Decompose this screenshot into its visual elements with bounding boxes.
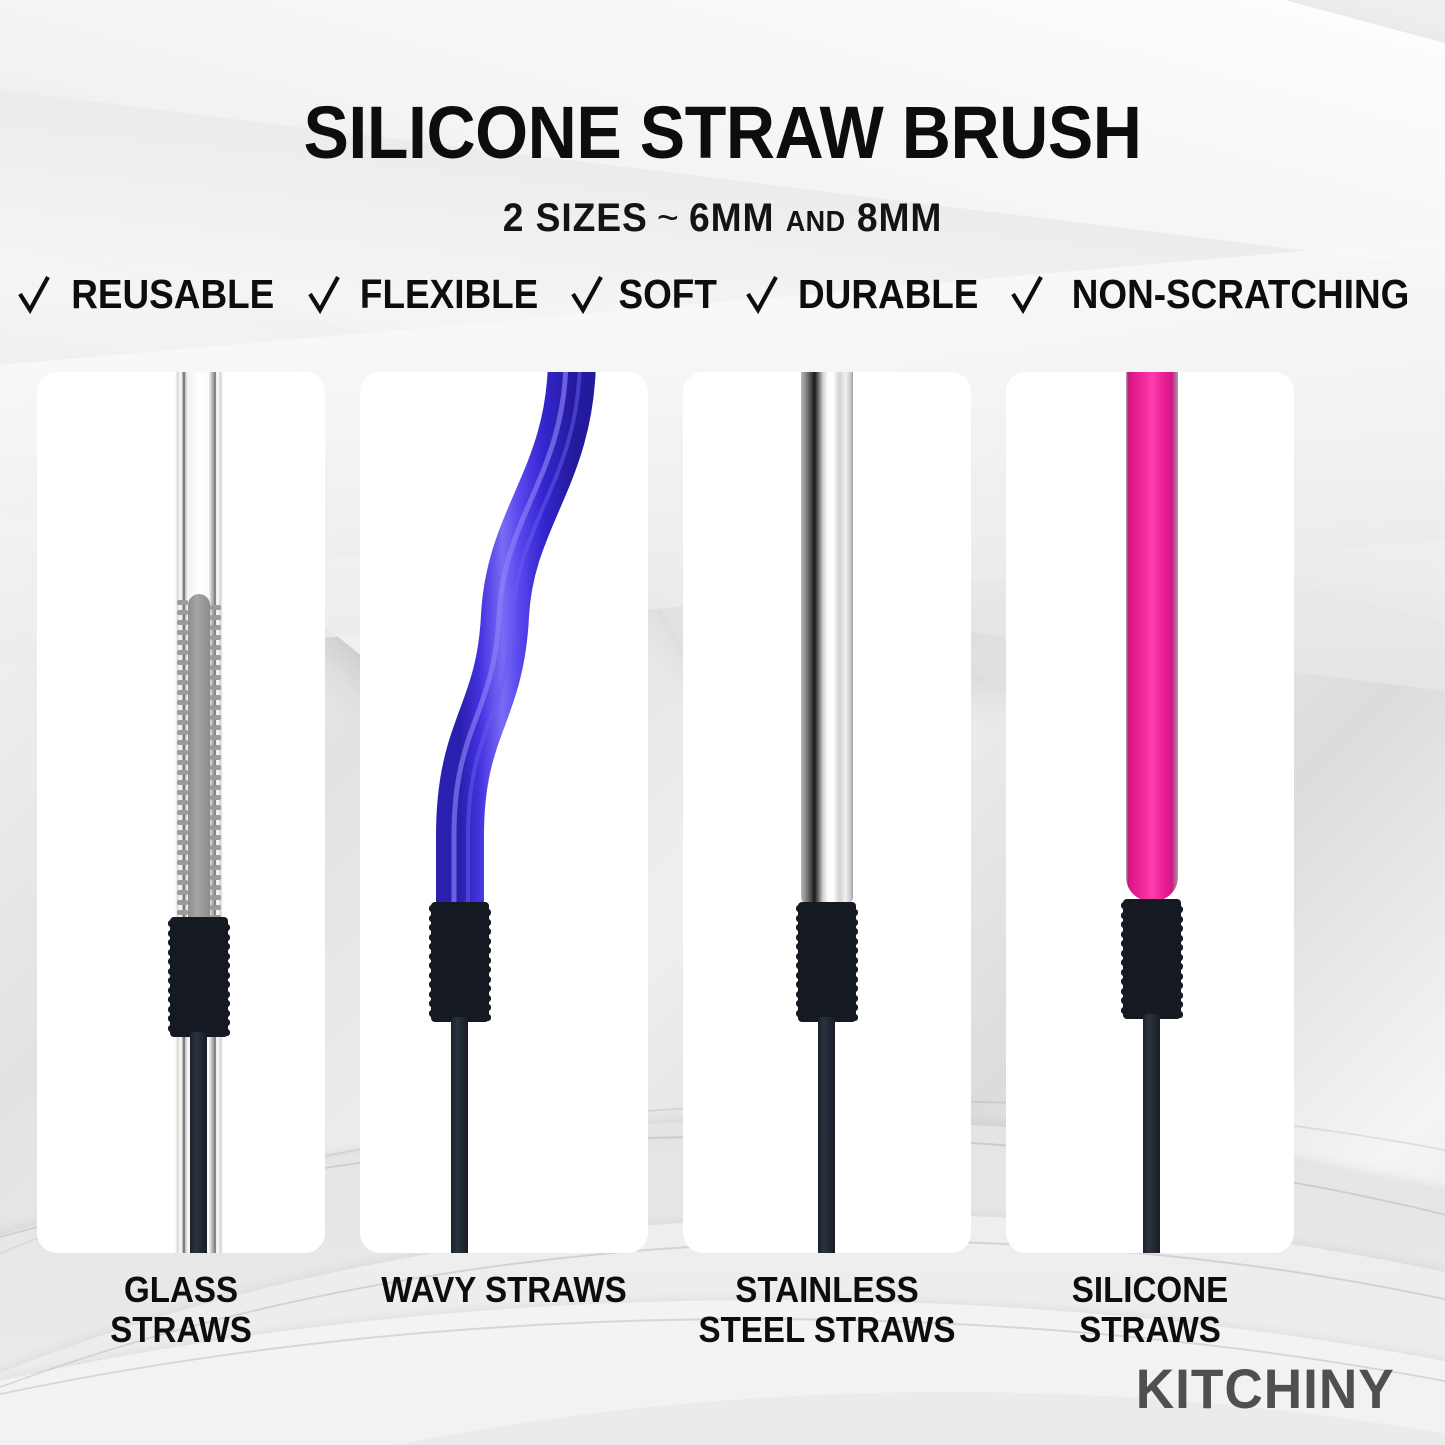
brush-bristle	[429, 934, 459, 941]
feature-label-soft: SOFT	[619, 271, 717, 318]
brush-bristle	[1153, 982, 1183, 989]
brush-bristle	[461, 1004, 491, 1011]
product-panel-wavy	[360, 372, 648, 1253]
brush-bristle	[828, 985, 858, 992]
feature-label-flexible: FLEXIBLE	[360, 271, 538, 318]
brush-bristle	[828, 909, 858, 916]
brush-bristle	[828, 966, 858, 973]
brush-bristle	[200, 1000, 230, 1007]
brush-bristle	[168, 1015, 198, 1022]
product-panel-steel	[683, 372, 971, 1253]
brush-bristle	[429, 943, 459, 950]
feature-label-non-scratching: NON-SCRATCHING	[1072, 271, 1410, 318]
brush-bristle	[796, 934, 826, 941]
brush-bristle	[429, 924, 459, 931]
check-icon	[745, 273, 779, 317]
brush-bristle	[461, 909, 491, 916]
brush-bristle	[429, 915, 459, 922]
brush-bristle	[828, 1004, 858, 1011]
brush-bristle	[168, 930, 198, 937]
feature-item-durable: DURABLE	[745, 271, 988, 318]
brush-bristle	[1121, 940, 1151, 947]
brush-bristle	[796, 905, 826, 912]
brush-bristle	[461, 928, 491, 935]
brush-bristle	[200, 934, 230, 941]
brush-bristle	[200, 953, 230, 960]
subtitle-size-small: 6MM	[689, 196, 774, 240]
brush-bristle	[168, 968, 198, 975]
brush-bristles	[360, 372, 648, 1253]
product-panel-glass	[37, 372, 325, 1253]
feature-item-non-scratching: NON-SCRATCHING	[1010, 271, 1428, 318]
brush-bristle	[1153, 935, 1183, 942]
brush-bristle	[168, 1006, 198, 1013]
subtitle-and: AND	[786, 206, 846, 238]
brush-bristle	[200, 991, 230, 998]
brush-bristle	[1121, 1007, 1151, 1014]
brush-bristle	[828, 957, 858, 964]
brush-bristle	[429, 962, 459, 969]
brush-bristle	[1121, 969, 1151, 976]
brush-bristle	[828, 919, 858, 926]
check-icon	[307, 273, 341, 317]
product-infographic: SILICONE STRAW BRUSH 2 SIZES~6MM AND 8MM…	[0, 0, 1445, 1445]
subtitle-size-large: 8MM	[857, 196, 942, 240]
brush-bristle	[828, 938, 858, 945]
wavy-straw-illustration	[360, 372, 648, 1253]
brush-handle	[818, 1017, 835, 1253]
brush-bristle	[200, 962, 230, 969]
brush-bristle	[461, 938, 491, 945]
brush-bristle	[1153, 925, 1183, 932]
brush-bristle	[796, 915, 826, 922]
brush-bristle	[1153, 973, 1183, 980]
brush-bristle	[200, 972, 230, 979]
caption-glass: GLASS STRAWS	[49, 1270, 314, 1351]
glass-straw-illustration	[37, 372, 325, 1253]
brush-bristle	[1153, 992, 1183, 999]
brush-bristle	[1153, 1001, 1183, 1008]
brush-bristle	[1153, 954, 1183, 961]
page-title: SILICONE STRAW BRUSH	[58, 0, 1387, 170]
brush-bristle	[168, 949, 198, 956]
feature-item-reusable: REUSABLE	[17, 271, 286, 318]
brush-bristle	[461, 995, 491, 1002]
brush-bristle	[461, 976, 491, 983]
brush-bristle	[828, 995, 858, 1002]
brush-bristle	[1153, 963, 1183, 970]
brush-bristle	[429, 1010, 459, 1017]
brush-bristle	[1121, 912, 1151, 919]
caption-silicone: SILICONE STRAWS	[1018, 1270, 1283, 1351]
brush-bristle	[200, 1019, 230, 1026]
brush-bristle	[461, 985, 491, 992]
brush-bristle	[1121, 978, 1151, 985]
product-panel-silicone	[1006, 372, 1294, 1253]
brush-bristle	[1121, 959, 1151, 966]
brush-bristle	[796, 962, 826, 969]
brush-bristle	[1121, 902, 1151, 909]
brush-bristle	[828, 976, 858, 983]
brush-bristle	[828, 947, 858, 954]
brush-bristle	[1121, 931, 1151, 938]
brush-bristle	[1153, 944, 1183, 951]
brush-bristle	[796, 981, 826, 988]
brush-bristle	[168, 996, 198, 1003]
product-panel-row	[37, 372, 1408, 1253]
brush-bristle	[796, 972, 826, 979]
brush-bristle	[1121, 950, 1151, 957]
feature-item-soft: SOFT	[570, 271, 722, 318]
brush-bristle	[1121, 988, 1151, 995]
brush-bristle	[200, 981, 230, 988]
brush-bristle	[1153, 916, 1183, 923]
brush-bristle	[168, 958, 198, 965]
brush-bristle	[200, 924, 230, 931]
steel-straw-illustration	[683, 372, 971, 1253]
brush-bristle	[429, 991, 459, 998]
header: SILICONE STRAW BRUSH 2 SIZES~6MM AND 8MM…	[0, 0, 1445, 318]
brush-bristle	[828, 928, 858, 935]
brush-bristle	[461, 947, 491, 954]
brush-bristle	[200, 1010, 230, 1017]
brush-bristle	[461, 957, 491, 964]
brush-bristle	[796, 991, 826, 998]
brush-bristle	[796, 943, 826, 950]
feature-label-durable: DURABLE	[798, 271, 978, 318]
check-icon	[570, 273, 604, 317]
brush-bristle	[200, 943, 230, 950]
brush-bristles	[37, 372, 325, 1253]
brush-bristle	[429, 1000, 459, 1007]
brush-bristle	[429, 972, 459, 979]
brush-bristle	[168, 987, 198, 994]
size-subtitle: 2 SIZES~6MM AND 8MM	[51, 170, 1395, 241]
feature-label-reusable: REUSABLE	[71, 271, 274, 318]
brush-bristle	[796, 924, 826, 931]
brush-bristle	[796, 953, 826, 960]
brush-bristle	[796, 1010, 826, 1017]
brush-handle	[451, 1017, 468, 1253]
brush-bristle	[1153, 906, 1183, 913]
brush-bristle	[168, 920, 198, 927]
subtitle-tilde: ~	[648, 196, 689, 240]
brush-bristle	[168, 977, 198, 984]
caption-row: GLASS STRAWS WAVY STRAWS STAINLESS STEEL…	[37, 1270, 1408, 1351]
brush-bristle	[168, 1025, 198, 1032]
brush-bristle	[1121, 997, 1151, 1004]
feature-list: REUSABLE FLEXIBLE SOFT DURABLE	[0, 241, 1445, 318]
subtitle-sizes: 2 SIZES	[503, 196, 648, 240]
brush-bristle	[796, 1000, 826, 1007]
brush-bristle	[461, 966, 491, 973]
silicone-straw-illustration	[1006, 372, 1294, 1253]
brush-handle	[1143, 1014, 1160, 1253]
check-icon	[17, 273, 51, 317]
check-icon	[1010, 273, 1044, 317]
brand-logo: KITCHINY	[1135, 1356, 1394, 1421]
brush-bristle	[429, 905, 459, 912]
brush-bristle	[1121, 921, 1151, 928]
feature-item-flexible: FLEXIBLE	[307, 271, 548, 318]
caption-steel: STAINLESS STEEL STRAWS	[695, 1270, 960, 1351]
brush-bristle	[429, 981, 459, 988]
brush-handle	[190, 1032, 207, 1253]
brush-bristle	[429, 953, 459, 960]
caption-wavy: WAVY STRAWS	[372, 1270, 637, 1351]
brush-bristle	[168, 939, 198, 946]
brush-bristle	[461, 919, 491, 926]
